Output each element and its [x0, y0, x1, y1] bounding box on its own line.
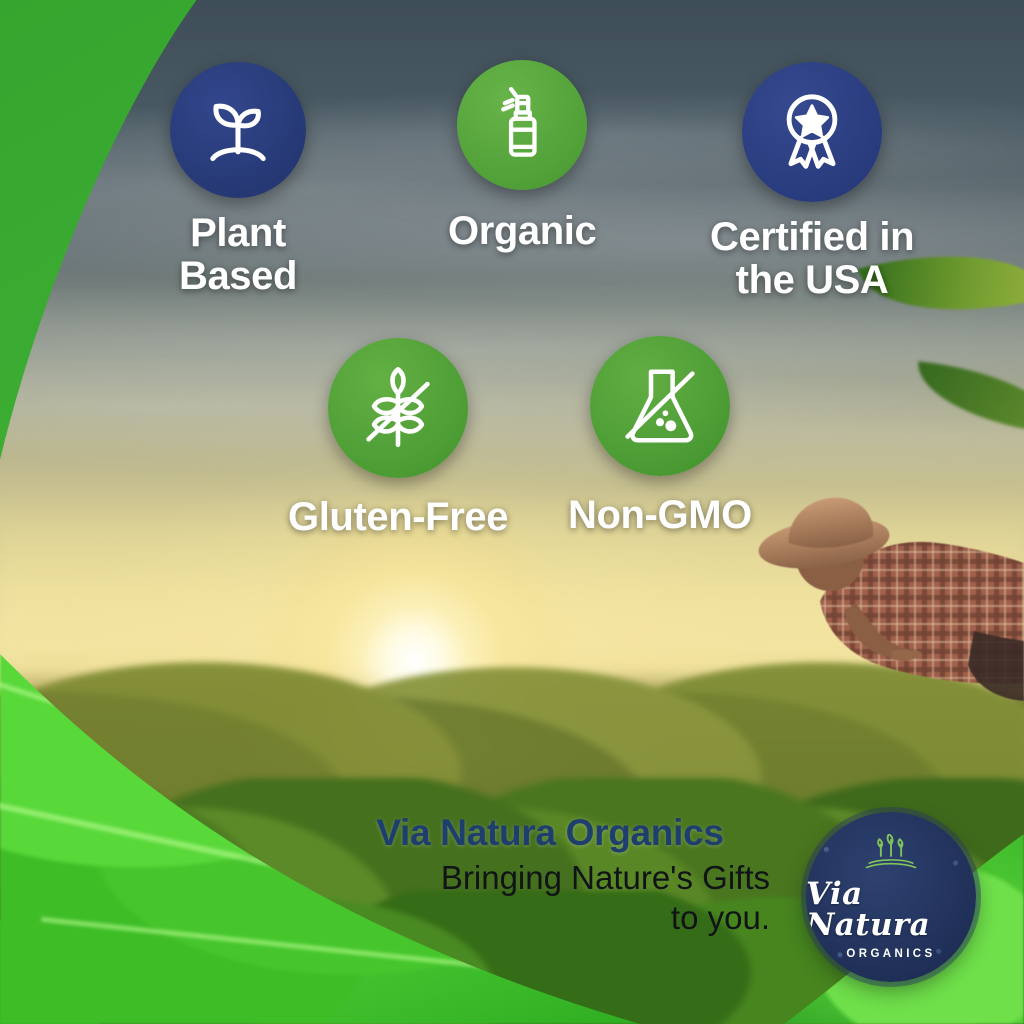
- award-rosette-icon: [768, 88, 856, 176]
- badge-non-gmo[interactable]: Non-GMO: [568, 336, 752, 537]
- badge-label: Plant Based: [179, 212, 297, 298]
- badge-label: Gluten-Free: [288, 496, 508, 539]
- promo-graphic: Plant Based: [0, 0, 1024, 1024]
- badge-disc: [328, 338, 468, 478]
- wheat-slash-icon: [352, 362, 444, 454]
- badge-label: Certified in the USA: [710, 216, 914, 302]
- sprout-icon: [196, 88, 280, 172]
- logo-texture: [806, 812, 976, 982]
- badge-label: Non-GMO: [568, 494, 752, 537]
- badge-disc: [590, 336, 730, 476]
- badge-label: Organic: [448, 210, 596, 253]
- badge-organic[interactable]: Organic: [448, 60, 596, 253]
- brand-tagline: Bringing Nature's Gifts to you.: [330, 858, 770, 939]
- badge-plant-based[interactable]: Plant Based: [170, 62, 306, 298]
- logo-badge[interactable]: Via Natura ORGANICS: [806, 812, 976, 982]
- spray-bottle-icon: [483, 86, 561, 164]
- badge-disc: [170, 62, 306, 198]
- badge-gluten-free[interactable]: Gluten-Free: [288, 338, 508, 539]
- badge-certified-usa[interactable]: Certified in the USA: [710, 62, 914, 302]
- brand-block: Via Natura Organics Bringing Nature's Gi…: [330, 812, 770, 939]
- badge-disc: [457, 60, 587, 190]
- brand-name: Via Natura Organics: [330, 812, 770, 854]
- flask-slash-icon: [615, 361, 705, 451]
- badge-disc: [742, 62, 882, 202]
